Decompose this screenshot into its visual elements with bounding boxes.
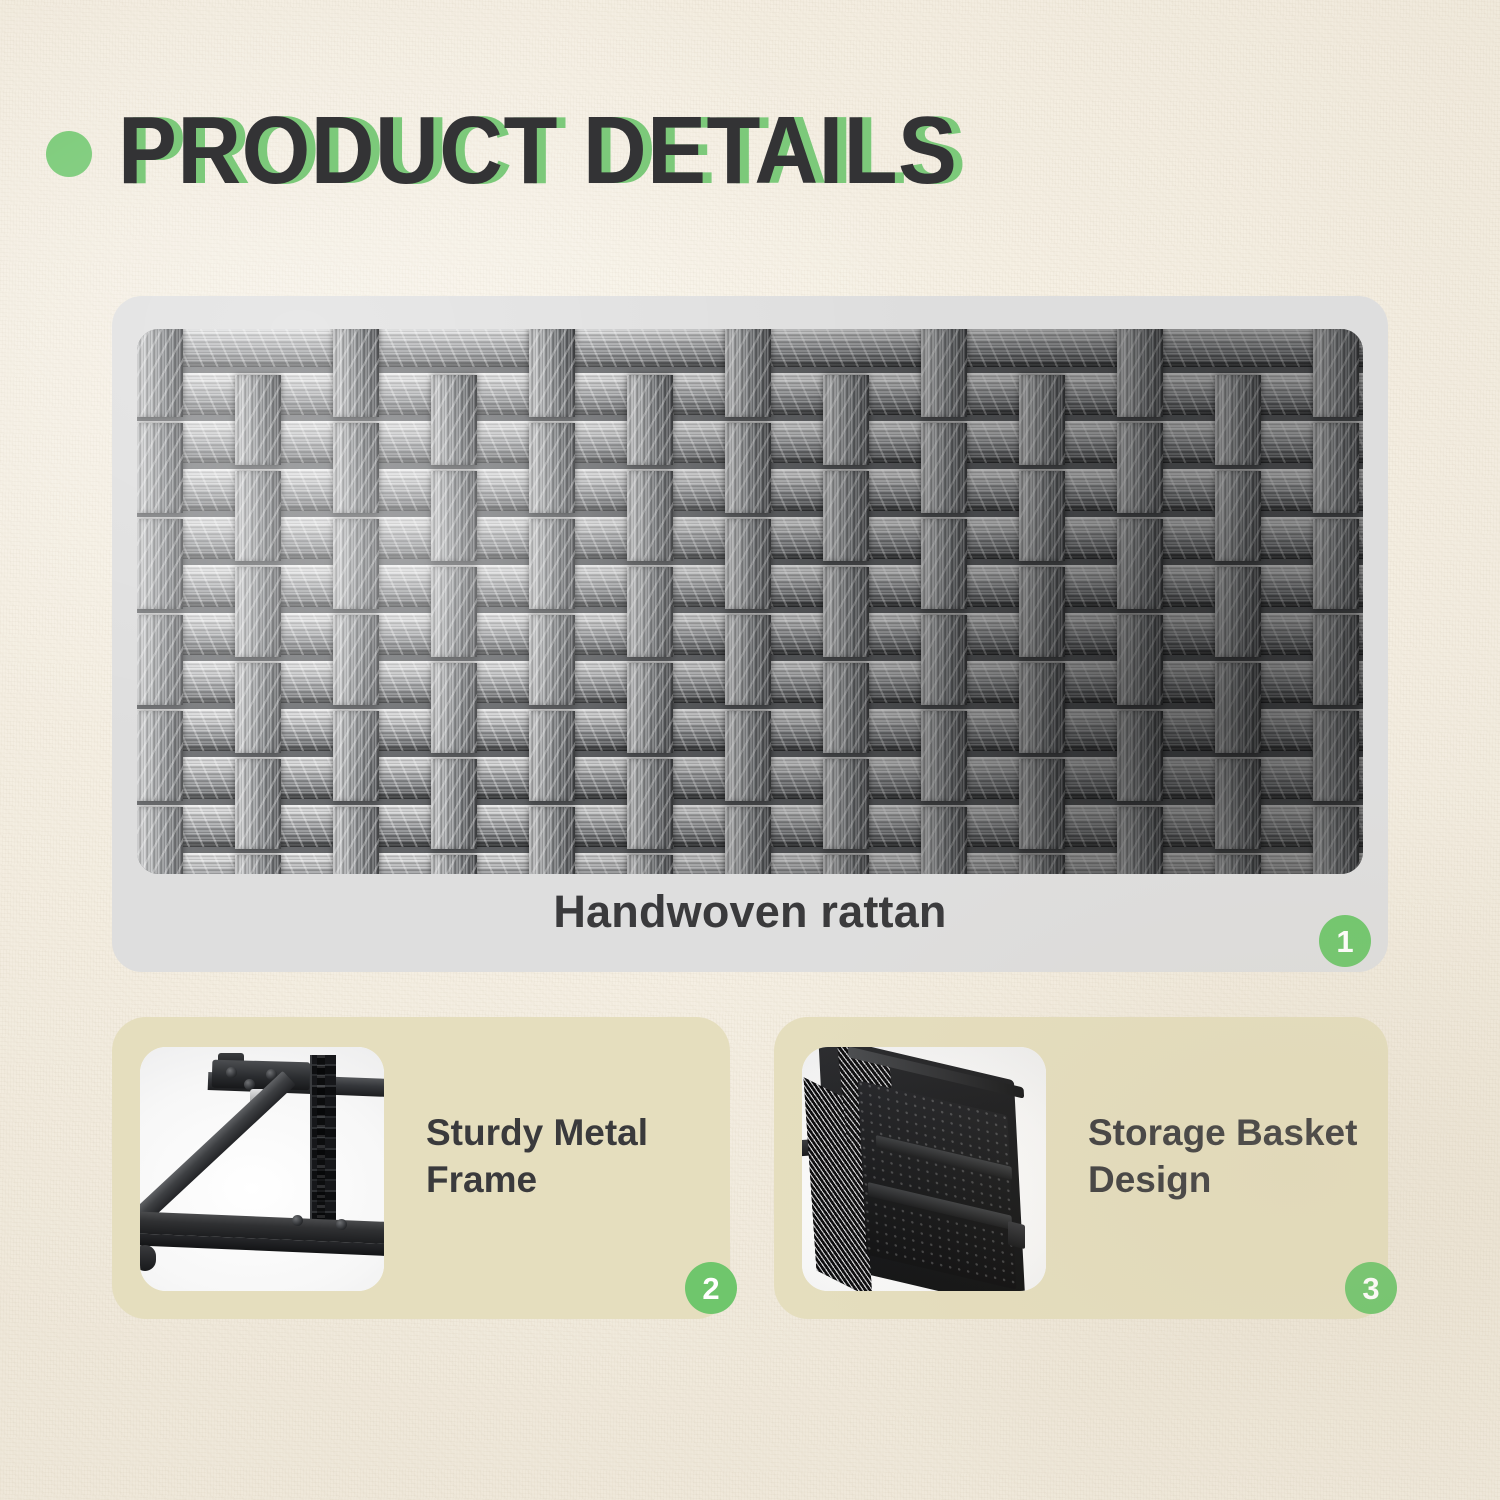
feature-caption-1: Handwoven rattan <box>112 886 1388 938</box>
rattan-vertical-connector <box>431 759 477 849</box>
rattan-vertical-connector <box>921 615 967 705</box>
rattan-vertical-connector <box>1215 663 1261 753</box>
rattan-vertical-connector <box>1117 615 1163 705</box>
feature-caption-3: Storage Basket Design <box>1088 1109 1368 1203</box>
rattan-vertical-connector <box>627 471 673 561</box>
feature-badge-1: 1 <box>1319 915 1371 967</box>
product-details-page: PRODUCT DETAILS PRODUCT DETAILS Handwove… <box>0 0 1500 1500</box>
rattan-vertical-connector <box>627 663 673 753</box>
rattan-vertical-connector <box>431 855 477 874</box>
rattan-vertical-connector <box>921 329 967 417</box>
rattan-vertical-connector <box>1019 567 1065 657</box>
frame-caster-wheel <box>140 1245 156 1271</box>
feature-card-1: Handwoven rattan <box>112 296 1388 972</box>
rattan-vertical-connector <box>235 663 281 753</box>
rattan-vertical-connector <box>1019 855 1065 874</box>
rattan-vertical-connector <box>725 519 771 609</box>
frame-bolt <box>336 1219 347 1230</box>
rattan-weave-pattern <box>137 329 1363 874</box>
rattan-vertical-connector <box>627 567 673 657</box>
frame-notched-post <box>310 1055 336 1233</box>
rattan-vertical-connector <box>137 615 183 705</box>
rattan-vertical-connector <box>137 519 183 609</box>
rattan-vertical-connector <box>627 759 673 849</box>
rattan-vertical-connector <box>137 423 183 513</box>
rattan-vertical-connector <box>627 375 673 465</box>
rattan-vertical-connector <box>333 615 379 705</box>
rattan-vertical-connector <box>627 855 673 874</box>
rattan-vertical-connector <box>1313 615 1359 705</box>
rattan-vertical-connector <box>1313 329 1359 417</box>
rattan-vertical-connector <box>823 375 869 465</box>
rattan-vertical-connector <box>823 855 869 874</box>
rattan-vertical-connector <box>823 567 869 657</box>
rattan-vertical-connector <box>431 471 477 561</box>
rattan-vertical-connector <box>431 663 477 753</box>
rattan-vertical-connector <box>1215 855 1261 874</box>
rattan-vertical-connector <box>529 423 575 513</box>
rattan-vertical-connector <box>921 711 967 801</box>
feature-caption-2: Sturdy Metal Frame <box>426 1109 706 1203</box>
rattan-vertical-connector <box>1215 567 1261 657</box>
rattan-vertical-connector <box>333 329 379 417</box>
frame-diagonal-brace <box>140 1071 296 1232</box>
rattan-vertical-connector <box>921 519 967 609</box>
basket-mount-tab <box>1008 1221 1025 1249</box>
rattan-vertical-connector <box>725 615 771 705</box>
rattan-vertical-connector <box>1019 375 1065 465</box>
feature-badge-2: 2 <box>685 1262 737 1314</box>
rattan-vertical-connector <box>1215 375 1261 465</box>
rattan-vertical-connector <box>235 567 281 657</box>
rattan-vertical-connector <box>529 615 575 705</box>
page-header: PRODUCT DETAILS PRODUCT DETAILS <box>46 96 1346 206</box>
rattan-vertical-connector <box>725 329 771 417</box>
rattan-vertical-connector <box>1313 807 1359 874</box>
rattan-vertical-connector <box>1019 663 1065 753</box>
rattan-vertical-connector <box>529 519 575 609</box>
rattan-vertical-connector <box>1313 519 1359 609</box>
rattan-vertical-connector <box>1313 711 1359 801</box>
storage-basket-illustration <box>802 1047 1046 1291</box>
frame-bolt <box>292 1215 303 1226</box>
rattan-vertical-connector <box>529 329 575 417</box>
rattan-vertical-connector <box>1117 329 1163 417</box>
rattan-vertical-connector <box>823 471 869 561</box>
rattan-vertical-connector <box>725 711 771 801</box>
bullet-dot-icon <box>46 131 92 177</box>
rattan-vertical-connector <box>1019 471 1065 561</box>
rattan-vertical-connector <box>1215 471 1261 561</box>
rattan-vertical-connector <box>235 855 281 874</box>
rattan-vertical-connector <box>235 471 281 561</box>
rattan-vertical-connector <box>823 759 869 849</box>
rattan-vertical-connector <box>921 807 967 874</box>
rattan-vertical-connector <box>1215 759 1261 849</box>
rattan-vertical-connector <box>1313 423 1359 513</box>
rattan-vertical-connector <box>1117 807 1163 874</box>
frame-bolt <box>226 1067 237 1078</box>
rattan-vertical-connector <box>235 759 281 849</box>
feature-card-2: Sturdy Metal Frame <box>112 1017 730 1319</box>
rattan-vertical-connector <box>333 807 379 874</box>
rattan-vertical-connector <box>333 711 379 801</box>
feature-card-3: Storage Basket Design <box>774 1017 1388 1319</box>
rattan-vertical-connector <box>333 519 379 609</box>
rattan-vertical-connector <box>431 567 477 657</box>
rattan-vertical-connector <box>725 807 771 874</box>
rattan-vertical-connector <box>529 807 575 874</box>
page-title-text: PRODUCT DETAILS <box>118 101 957 201</box>
metal-frame-illustration <box>140 1047 384 1291</box>
rattan-vertical-connector <box>333 423 379 513</box>
rattan-vertical-connector <box>137 329 183 417</box>
rattan-vertical-connector <box>1117 711 1163 801</box>
rattan-vertical-connector <box>725 423 771 513</box>
rattan-vertical-connector <box>1019 759 1065 849</box>
feature-badge-3: 3 <box>1345 1262 1397 1314</box>
rattan-vertical-connector <box>921 423 967 513</box>
storage-basket-photo <box>802 1047 1046 1291</box>
rattan-vertical-connector <box>431 375 477 465</box>
rattan-vertical-connector <box>137 711 183 801</box>
rattan-vertical-connector <box>137 807 183 874</box>
rattan-vertical-connector <box>529 711 575 801</box>
rattan-vertical-connector <box>1117 423 1163 513</box>
rattan-vertical-connector <box>823 663 869 753</box>
rattan-vertical-connector <box>1117 519 1163 609</box>
rattan-vertical-connector <box>235 375 281 465</box>
rattan-weave-photo <box>137 329 1363 874</box>
metal-frame-photo <box>140 1047 384 1291</box>
page-title: PRODUCT DETAILS PRODUCT DETAILS <box>118 96 1030 206</box>
